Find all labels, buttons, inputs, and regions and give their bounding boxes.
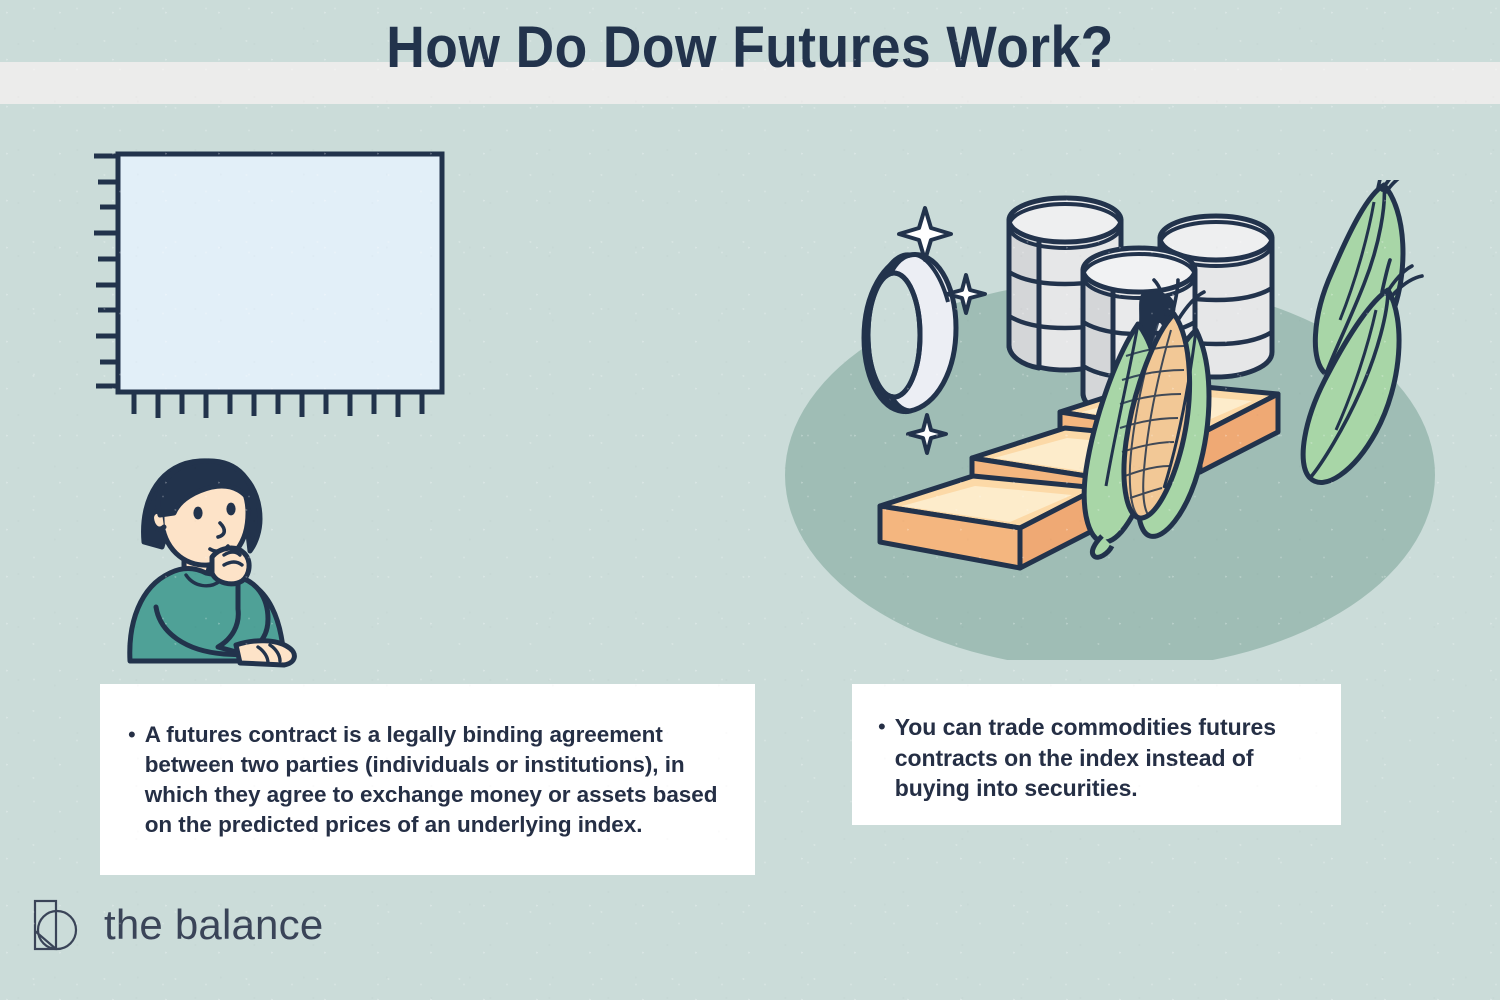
sparkle-icon (899, 208, 951, 260)
callout-box-left: • A futures contract is a legally bindin… (100, 684, 755, 875)
person-eye-left (193, 507, 202, 520)
callout-right-text: You can trade commodities futures contra… (895, 712, 1313, 804)
bullet-icon: • (878, 712, 895, 741)
brand-logo: the balance (30, 895, 323, 955)
callout-box-right: • You can trade commodities futures cont… (852, 684, 1341, 825)
corn-silk-upper (1378, 180, 1416, 192)
chart-plot-area (118, 154, 442, 392)
callout-left-text: A futures contract is a legally binding … (145, 720, 721, 840)
commodities-scene-illustration (760, 180, 1470, 660)
brand-wordmark: the balance (104, 901, 323, 949)
silver-ring-icon (864, 255, 956, 412)
page-title: How Do Dow Futures Work? (60, 14, 1440, 81)
infographic-canvas: How Do Dow Futures Work? (0, 0, 1500, 1000)
bullet-icon: • (128, 720, 145, 749)
chart-x-axis-ticks (134, 392, 422, 418)
balance-b-logo-icon (30, 896, 88, 954)
chart-y-axis-ticks (94, 156, 118, 386)
empty-chart-illustration (84, 142, 474, 427)
thinking-person-illustration (100, 447, 330, 677)
person-eye-right (226, 503, 235, 516)
